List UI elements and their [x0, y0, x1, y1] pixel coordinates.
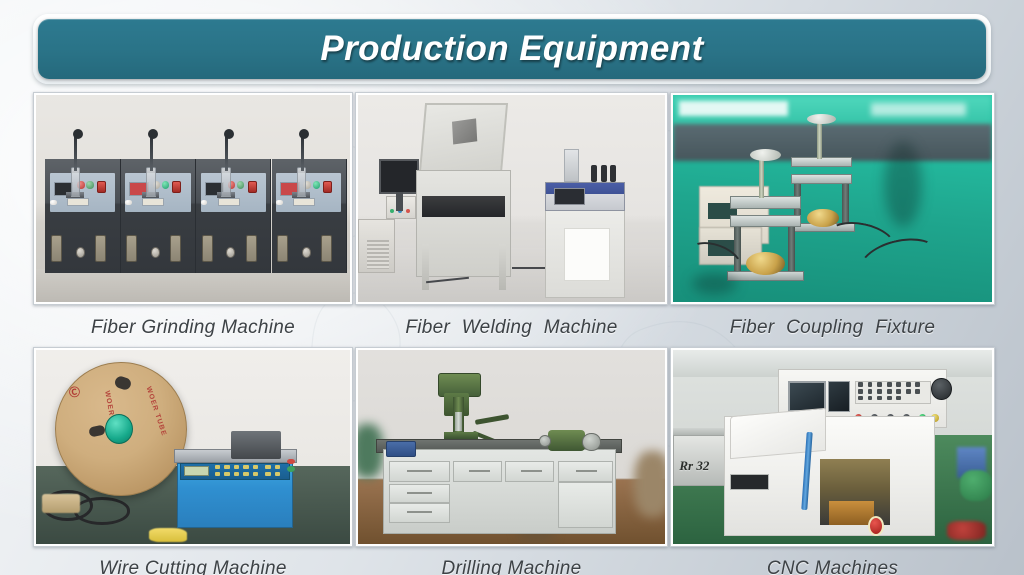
photo-detail-key [887, 382, 892, 387]
photo-detail-fixture-mid-plate [730, 215, 800, 227]
caption-fiber-grinding-machine: Fiber Grinding Machine [33, 317, 353, 339]
equipment-row-2: Ⓒ WOER TUBE WOER [0, 347, 1024, 575]
caption-drilling-machine: Drilling Machine [355, 558, 668, 575]
photo-detail-socket [95, 235, 106, 263]
caption-fiber-welding-machine: Fiber Welding Machine [355, 317, 668, 339]
photo-detail-monitor [379, 159, 419, 194]
photo-detail-lower-face [199, 218, 267, 266]
photo-detail-switch [323, 181, 332, 193]
caption-wire-cutting-machine: Wire Cutting Machine [33, 558, 353, 575]
photo-detail-key [243, 472, 248, 476]
photo-detail-polish-head [221, 167, 231, 197]
slide-root: Production Equipment [0, 0, 1024, 575]
photo-detail-drawer [389, 503, 450, 522]
photo-detail-hose [591, 165, 597, 182]
photo-detail-cnc-screen-secondary [828, 381, 850, 412]
photo-detail-drawer-handle [521, 470, 542, 472]
photo-detail-button [162, 181, 169, 188]
photo-detail-bench-grinder [548, 430, 585, 451]
photo-detail-cutting-head [231, 431, 281, 458]
photo-detail-button [86, 181, 93, 188]
photo-fiber-welding-machine [358, 95, 665, 302]
photo-detail-switch [172, 181, 181, 193]
photo-detail-lower-face [274, 218, 342, 266]
photo-detail-lathe-marking: Rr 32 [679, 458, 709, 474]
photo-detail-key [896, 396, 901, 401]
photo-detail-yellow-cloth [149, 528, 187, 542]
photo-detail-arm [150, 136, 153, 170]
photo-detail-key [915, 382, 920, 387]
photo-detail-label [142, 198, 164, 207]
photo-detail-arm [225, 136, 228, 170]
photo-detail-key [858, 389, 863, 394]
page-title: Production Equipment [320, 29, 703, 69]
photo-detail-blur-object [634, 451, 665, 517]
photo-detail-key [215, 465, 220, 469]
photo-detail-socket [246, 235, 257, 263]
photo-detail-light-strip [871, 103, 967, 115]
photo-detail-drawer-handle [576, 470, 597, 472]
photo-detail-lcd [184, 466, 209, 476]
photo-detail-knob-ball [148, 129, 158, 139]
photo-detail-white-knob [50, 200, 57, 205]
photo-detail-drill-quill [455, 412, 462, 431]
photo-detail-key [234, 465, 239, 469]
photo-detail-lower-face [48, 218, 116, 266]
photo-detail-light-strip [679, 101, 787, 115]
photo-detail-grinder-unit [272, 159, 347, 273]
photo-detail-cabinet-screen [554, 188, 585, 205]
photo-detail-wire-coil [74, 497, 131, 524]
photo-drilling-machine [358, 350, 665, 544]
photo-detail-knob [226, 247, 235, 258]
photo-detail-grinder-unit [196, 159, 271, 273]
photo-detail-nameplate [730, 474, 768, 490]
photo-detail-key [868, 382, 873, 387]
photo-detail-key [877, 389, 882, 394]
photo-detail-chip-tray [829, 501, 874, 524]
photo-detail-spool-logo: Ⓒ [68, 383, 81, 400]
photo-detail-monitor-stand [396, 192, 402, 211]
photo-fiber-grinding-machine [36, 95, 350, 302]
photo-detail-fixture-rod [817, 120, 822, 159]
photo-detail-drawer-handle [407, 492, 432, 494]
photo-detail-knob-ball [73, 129, 83, 139]
photo-detail-drawer [389, 484, 450, 503]
photo-detail-knob [151, 247, 160, 258]
photo-detail-socket [277, 235, 288, 263]
photo-detail-lower-face [124, 218, 192, 266]
photo-detail-viewing-window [452, 118, 477, 144]
photo-detail-knob [302, 247, 311, 258]
photo-detail-arm [74, 136, 77, 170]
photo-frame-fiber-grinding-machine[interactable] [33, 92, 353, 305]
photo-frame-wire-cutting-machine[interactable]: Ⓒ WOER TUBE WOER [33, 347, 353, 547]
photo-detail-shadow [692, 273, 737, 294]
photo-detail-handwheel [931, 378, 952, 401]
photo-detail-knob [76, 247, 85, 258]
photo-detail-vise [386, 441, 417, 457]
equipment-row-1: Fiber Grinding Machine [0, 92, 1024, 342]
photo-detail-key [265, 472, 270, 476]
photo-detail-key [887, 396, 892, 401]
photo-detail-button [237, 181, 244, 188]
photo-detail-key [253, 465, 258, 469]
photo-frame-fiber-welding-machine[interactable] [355, 92, 668, 305]
photo-detail-feed-lever [474, 414, 508, 425]
photo-detail-tan-object [42, 494, 80, 513]
photo-detail-polish-head [146, 167, 156, 197]
photo-detail-knob-ball [224, 129, 234, 139]
photo-detail-blur-object [884, 141, 922, 228]
photo-detail-key [906, 389, 911, 394]
photo-detail-key [858, 396, 863, 401]
photo-detail-switch [97, 181, 106, 193]
photo-detail-polish-head [297, 167, 307, 197]
equipment-card-wire-cutting-machine[interactable]: Ⓒ WOER TUBE WOER [33, 347, 353, 575]
equipment-grid: Fiber Grinding Machine [0, 92, 1024, 575]
photo-detail-fixture-top-plate [730, 196, 800, 208]
photo-detail-key [858, 382, 863, 387]
photo-detail-drill-table [444, 432, 478, 440]
title-banner-frame: Production Equipment [33, 14, 991, 84]
photo-frame-cnc-machines[interactable]: Rr 32 [670, 347, 995, 547]
equipment-card-fiber-coupling-fixture[interactable]: Fiber Coupling Fixture [670, 92, 995, 342]
photo-detail-fixture-dish [807, 114, 836, 124]
photo-detail-label [218, 198, 240, 207]
photo-detail-drawer-handle [407, 470, 432, 472]
photo-detail-enclosure [416, 170, 511, 278]
photo-detail-green-drum [960, 470, 992, 501]
equipment-card-fiber-welding-machine[interactable]: Fiber Welding Machine [355, 92, 668, 342]
photo-detail-key [215, 472, 220, 476]
photo-detail-label [293, 198, 315, 207]
photo-detail-paper-sheet [564, 228, 610, 282]
photo-detail-fixture-rod [759, 155, 764, 198]
photo-detail-fixture-post [842, 184, 849, 225]
photo-detail-socket [202, 235, 213, 263]
photo-detail-key [275, 472, 280, 476]
photo-detail-grinding-wheel [582, 433, 600, 450]
photo-detail-key [868, 389, 873, 394]
photo-detail-vent [367, 240, 388, 269]
photo-detail-key [906, 382, 911, 387]
photo-detail-arm [301, 136, 304, 170]
photo-frame-drilling-machine[interactable] [355, 347, 668, 547]
photo-detail-key [887, 389, 892, 394]
photo-detail-socket [51, 235, 62, 263]
photo-detail-key [253, 472, 258, 476]
photo-detail-drawer-handle [407, 511, 432, 513]
photo-detail-enclosure-lid [419, 103, 508, 173]
photo-detail-cabinet-door [558, 482, 613, 529]
photo-detail-cable [512, 267, 549, 269]
title-banner: Production Equipment [38, 19, 986, 79]
photo-detail-grinder-unit [45, 159, 120, 273]
photo-detail-key [275, 465, 280, 469]
photo-detail-key [243, 465, 248, 469]
photo-detail-drawer-handle [469, 470, 490, 472]
photo-detail-start-button [287, 466, 295, 472]
photo-detail-key [877, 396, 882, 401]
photo-detail-red-object [947, 521, 985, 540]
photo-detail-hose [601, 165, 607, 182]
photo-detail-key [896, 389, 901, 394]
photo-detail-key [234, 472, 239, 476]
photo-detail-white-knob [201, 200, 208, 205]
photo-detail-back-wall [673, 124, 992, 161]
photo-detail-fixture-mid-plate [791, 174, 852, 184]
caption-cnc-machines: CNC Machines [670, 558, 995, 575]
photo-detail-key [224, 472, 229, 476]
caption-fiber-coupling-fixture: Fiber Coupling Fixture [670, 317, 995, 339]
photo-detail-fixture-post [788, 227, 795, 273]
photo-detail-grinder-unit [121, 159, 196, 273]
photo-detail-label [67, 198, 89, 207]
photo-detail-button [313, 181, 320, 188]
photo-detail-gold-housing [746, 252, 784, 275]
photo-detail-leg [499, 244, 506, 290]
photo-detail-key [877, 382, 882, 387]
photo-detail-indicator [406, 209, 410, 213]
photo-detail-work-bed [422, 196, 505, 217]
photo-detail-key [224, 465, 229, 469]
photo-detail-stop-button [287, 459, 295, 465]
photo-detail-bench [36, 269, 350, 302]
photo-detail-key [896, 382, 901, 387]
photo-detail-laser-head [564, 149, 579, 182]
photo-detail-hose [610, 165, 616, 182]
photo-detail-knob-ball [299, 129, 309, 139]
equipment-card-fiber-grinding-machine[interactable]: Fiber Grinding Machine [33, 92, 353, 342]
photo-detail-socket [170, 235, 181, 263]
photo-detail-white-knob [276, 200, 283, 205]
photo-wire-cutting-machine: Ⓒ WOER TUBE WOER [36, 350, 350, 544]
photo-detail-key [265, 465, 270, 469]
photo-detail-emergency-stop [868, 516, 884, 536]
photo-detail-polish-head [71, 167, 81, 197]
photo-frame-fiber-coupling-fixture[interactable] [670, 92, 995, 305]
photo-fiber-coupling-fixture [673, 95, 992, 302]
photo-detail-key [915, 389, 920, 394]
photo-detail-socket [126, 235, 137, 263]
photo-cnc-machines: Rr 32 [673, 350, 992, 544]
equipment-card-drilling-machine[interactable]: Drilling Machine [355, 347, 668, 575]
photo-detail-socket [321, 235, 332, 263]
equipment-card-cnc-machines[interactable]: Rr 32 [670, 347, 995, 575]
photo-detail-key [868, 396, 873, 401]
photo-detail-switch [248, 181, 257, 193]
photo-detail-white-knob [125, 200, 132, 205]
